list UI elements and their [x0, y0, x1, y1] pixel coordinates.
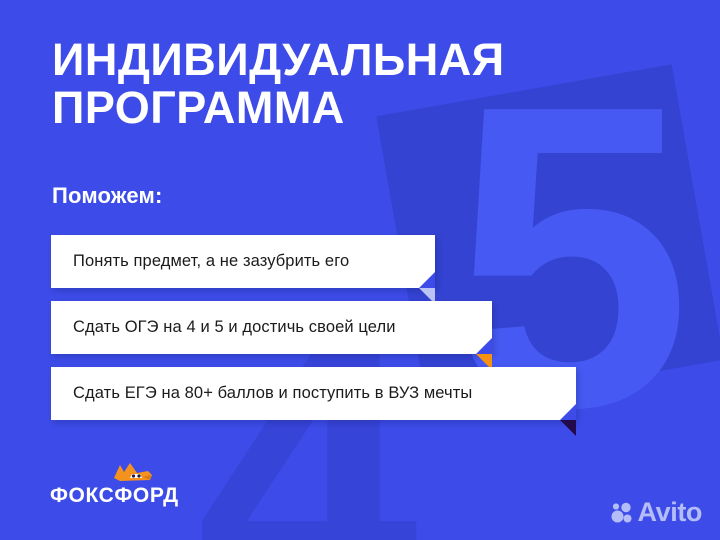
fox-icon: [110, 462, 156, 484]
avito-dots-icon: [611, 502, 633, 524]
section-subtitle: Поможем:: [52, 183, 163, 209]
benefit-card-label: Понять предмет, а не зазубрить его: [51, 252, 383, 271]
card-corner-clip: [419, 272, 435, 288]
avito-wordmark: Avito: [638, 499, 703, 526]
benefit-card: Понять предмет, а не зазубрить его: [51, 235, 435, 288]
benefit-card: Сдать ОГЭ на 4 и 5 и достичь своей цели: [51, 301, 492, 354]
logo-wordmark: ФОКСФОРД: [50, 484, 179, 508]
card-fold-triangle: [560, 420, 576, 436]
benefit-card: Сдать ЕГЭ на 80+ баллов и поступить в ВУ…: [51, 367, 576, 420]
card-corner-clip: [476, 338, 492, 354]
foxford-logo: ФОКСФОРД: [50, 462, 198, 508]
card-corner-clip: [560, 404, 576, 420]
page-title: ИНДИВИДУАЛЬНАЯ ПРОГРАММА: [52, 36, 652, 132]
promo-poster: 5 4 ИНДИВИДУАЛЬНАЯ ПРОГРАММА Поможем: По…: [0, 0, 720, 540]
benefit-card-list: Понять предмет, а не зазубрить его Сдать…: [51, 235, 576, 433]
avito-watermark: Avito: [611, 499, 703, 526]
benefit-card-label: Сдать ЕГЭ на 80+ баллов и поступить в ВУ…: [51, 384, 506, 403]
benefit-card-label: Сдать ОГЭ на 4 и 5 и достичь своей цели: [51, 318, 430, 337]
